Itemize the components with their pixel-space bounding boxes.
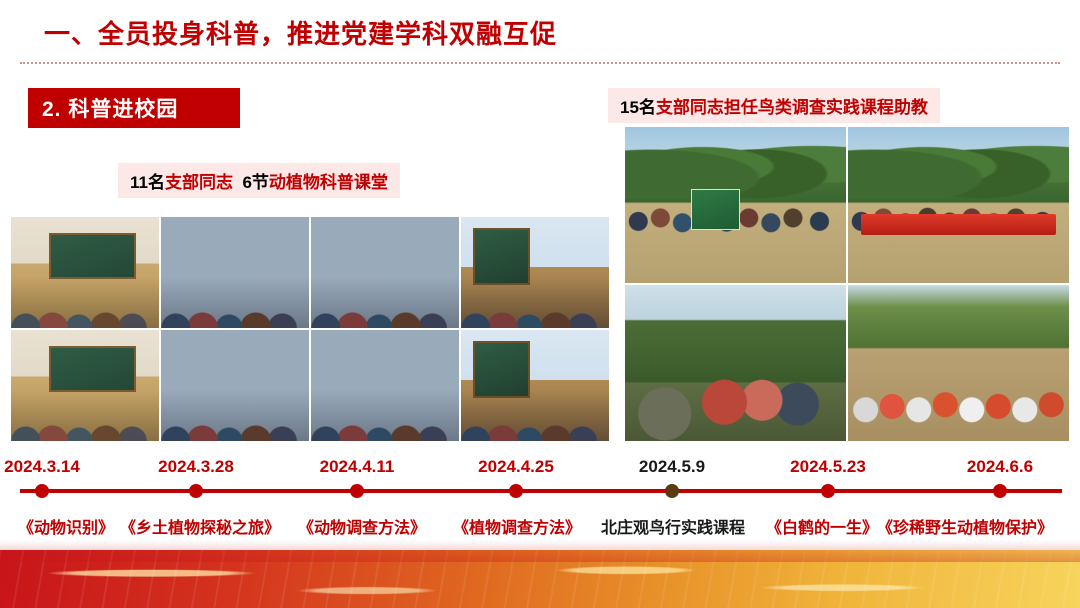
timeline-date-2: 2024.3.28 [158, 457, 234, 477]
timeline-axis [20, 489, 1062, 493]
timeline-dot-1 [35, 484, 49, 498]
photo-classroom-5 [11, 330, 159, 441]
photo-classroom-3 [311, 217, 459, 328]
photo-field-walking [848, 285, 1069, 441]
photo-classroom-6 [161, 330, 309, 441]
timeline-label-6: 《白鹤的一生》 [766, 514, 878, 538]
photo-classroom-4 [461, 217, 609, 328]
caption-chip-left: 11名支部同志 6节动植物科普课堂 [118, 163, 400, 198]
timeline-label-1: 《动物识别》 [18, 514, 114, 538]
timeline-label-2: 《乡土植物探秘之旅》 [120, 514, 280, 538]
timeline-dot-5 [665, 484, 679, 498]
timeline-label-5: 北庄观鸟行实践课程 [601, 514, 745, 538]
slide-root: 一、全员投身科普，推进党建学科双融互促 2. 科普进校园 11名支部同志 6节动… [0, 0, 1080, 608]
photo-field-birdwatching [625, 285, 846, 441]
timeline-date-1: 2024.3.14 [4, 457, 80, 477]
caption-right-count: 15名 [620, 93, 656, 118]
timeline-dot-7 [993, 484, 1007, 498]
timeline-date-4: 2024.4.25 [478, 457, 554, 477]
caption-left-text: 支部同志 [165, 168, 233, 193]
timeline-dot-3 [350, 484, 364, 498]
photo-classroom-2 [161, 217, 309, 328]
photo-field-group-banner [848, 127, 1069, 283]
timeline-dot-6 [821, 484, 835, 498]
timeline-label-4: 《植物调查方法》 [453, 514, 581, 538]
caption-left-count2: 6节 [242, 168, 268, 193]
photo-grid-classroom [10, 216, 610, 442]
timeline-dot-4 [509, 484, 523, 498]
timeline-date-7: 2024.6.6 [967, 457, 1033, 477]
timeline-label-3: 《动物调查方法》 [298, 514, 426, 538]
title-divider [20, 62, 1060, 64]
decorative-footer-band [0, 550, 1080, 608]
timeline-date-6: 2024.5.23 [790, 457, 866, 477]
section-tag: 2. 科普进校园 [28, 88, 240, 128]
photo-classroom-7 [311, 330, 459, 441]
caption-chip-right: 15名支部同志担任鸟类调查实践课程助教 [608, 88, 940, 123]
timeline-date-5: 2024.5.9 [639, 457, 705, 477]
photo-classroom-1 [11, 217, 159, 328]
caption-left-text2: 动植物科普课堂 [269, 168, 388, 193]
photo-classroom-8 [461, 330, 609, 441]
caption-right-text: 支部同志担任鸟类调查实践课程助教 [656, 93, 928, 118]
photo-field-group-flag [625, 127, 846, 283]
page-title: 一、全员投身科普，推进党建学科双融互促 [44, 14, 557, 51]
photo-grid-field [624, 126, 1070, 442]
timeline-dot-2 [189, 484, 203, 498]
timeline-label-7: 《珍稀野生动植物保护》 [877, 514, 1053, 538]
caption-left-count: 11名 [130, 168, 165, 193]
timeline-date-3: 2024.4.11 [320, 457, 395, 477]
